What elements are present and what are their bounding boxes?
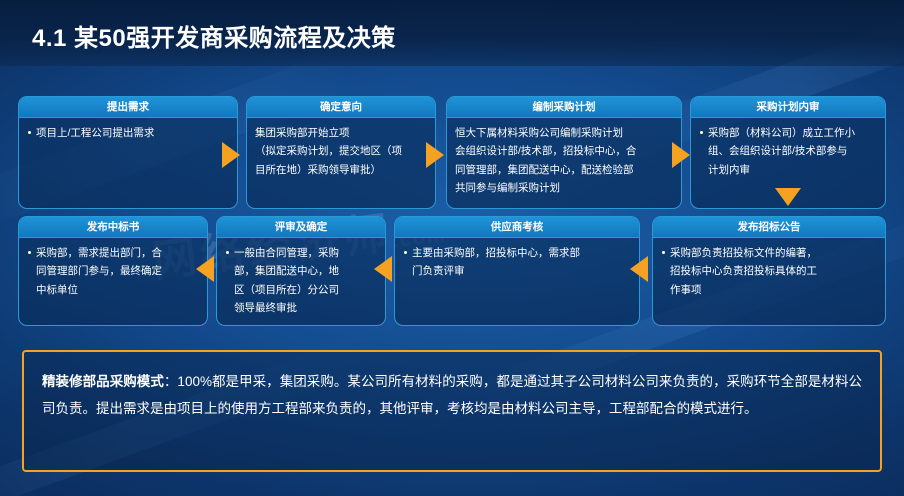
arrow-left-icon (196, 256, 214, 282)
summary-note: 精装修部品采购模式：100%都是甲采，集团采购。某公司所有材料的采购，都是通过其… (22, 350, 882, 472)
flow-box-header: 供应商考核 (395, 217, 639, 238)
flow-box-header: 编制采购计划 (447, 97, 681, 118)
flow-box-line: 采购部（材料公司）成立工作小 (699, 125, 877, 141)
flow-box-body: 一般由合同管理，采购 部，集团配送中心，地 区（项目所在）分公司 领导最终审批 (217, 238, 385, 324)
flow-box-提出需求[interactable]: 提出需求 项目上/工程公司提出需求 (18, 96, 238, 209)
flow-box-确定意向[interactable]: 确定意向 集团采购部开始立项 （拟定采购计划，提交地区（项 目所在地）采购领导审… (246, 96, 436, 209)
flow-box-line: 作事项 (661, 282, 877, 298)
flow-box-line: 中标单位 (27, 282, 199, 298)
summary-note-label: 精装修部品采购模式 (42, 374, 164, 389)
flow-box-line: 门负责评审 (403, 263, 631, 279)
flow-box-供应商考核[interactable]: 供应商考核 主要由采购部，招投标中心，需求部 门负责评审 (394, 216, 640, 326)
flow-box-line: 计划内审 (699, 162, 877, 178)
flow-box-line: 区（项目所在）分公司 (225, 282, 377, 298)
arrow-right-icon (426, 142, 444, 168)
page-title: 4.1 某50强开发商采购流程及决策 (32, 18, 396, 53)
arrow-right-icon (672, 142, 690, 168)
flow-box-body: 采购部（材料公司）成立工作小 组、会组织设计部/技术部参与 计划内审 (691, 118, 885, 186)
flow-box-line: 组、会组织设计部/技术部参与 (699, 143, 877, 159)
flow-box-发布招标公告[interactable]: 发布招标公告 采购部负责招投标文件的编著， 招投标中心负责招投标具体的工 作事项 (652, 216, 886, 326)
flow-box-line: 会组织设计部/技术部，招投标中心，合 (455, 143, 673, 159)
flow-box-编制采购计划[interactable]: 编制采购计划 恒大下属材料采购公司编制采购计划 会组织设计部/技术部，招投标中心… (446, 96, 682, 209)
flow-box-header: 提出需求 (19, 97, 237, 118)
flow-box-line: 一般由合同管理，采购 (225, 245, 377, 261)
arrow-left-icon (374, 256, 392, 282)
flow-box-line: 同管理部门参与，最终确定 (27, 263, 199, 279)
flow-box-body: 恒大下属材料采购公司编制采购计划 会组织设计部/技术部，招投标中心，合 同管理部… (447, 118, 681, 204)
flow-box-header: 采购计划内审 (691, 97, 885, 118)
flow-box-line: 招投标中心负责招投标具体的工 (661, 263, 877, 279)
flow-box-line: 目所在地）采购领导审批） (255, 162, 427, 178)
flow-box-line: 项目上/工程公司提出需求 (27, 125, 229, 141)
flow-box-line: （拟定采购计划，提交地区（项 (255, 143, 427, 159)
slide-canvas: 4.1 某50强开发商采购流程及决策 网络经济师.com 提出需求 项目上/工程… (0, 0, 904, 496)
flow-box-header: 发布招标公告 (653, 217, 885, 238)
arrow-left-icon (630, 256, 648, 282)
flow-box-header: 评审及确定 (217, 217, 385, 238)
arrow-right-icon (222, 142, 240, 168)
flow-box-header: 发布中标书 (19, 217, 207, 238)
flow-box-发布中标书[interactable]: 发布中标书 采购部，需求提出部门，合 同管理部门参与，最终确定 中标单位 (18, 216, 208, 326)
summary-note-body: ：100%都是甲采，集团采购。某公司所有材料的采购，都是通过其子公司材料公司来负… (42, 374, 862, 416)
flow-box-line: 采购部负责招投标文件的编著， (661, 245, 877, 261)
flow-box-body: 项目上/工程公司提出需求 (19, 118, 237, 149)
flow-box-header: 确定意向 (247, 97, 435, 118)
flow-box-line: 集团采购部开始立项 (255, 125, 427, 141)
flow-box-body: 采购部，需求提出部门，合 同管理部门参与，最终确定 中标单位 (19, 238, 207, 306)
arrow-down-icon (775, 188, 801, 206)
flow-box-line: 恒大下属材料采购公司编制采购计划 (455, 125, 673, 141)
flow-box-line: 同管理部，集团配送中心，配送检验部 (455, 162, 673, 178)
flow-box-line: 共同参与编制采购计划 (455, 180, 673, 196)
flow-box-body: 主要由采购部，招投标中心，需求部 门负责评审 (395, 238, 639, 288)
flow-box-评审及确定[interactable]: 评审及确定 一般由合同管理，采购 部，集团配送中心，地 区（项目所在）分公司 领… (216, 216, 386, 326)
flow-box-line: 主要由采购部，招投标中心，需求部 (403, 245, 631, 261)
flow-box-body: 集团采购部开始立项 （拟定采购计划，提交地区（项 目所在地）采购领导审批） (247, 118, 435, 186)
flow-box-line: 部，集团配送中心，地 (225, 263, 377, 279)
flow-box-line: 采购部，需求提出部门，合 (27, 245, 199, 261)
flow-box-line: 领导最终审批 (225, 300, 377, 316)
summary-note-text: 精装修部品采购模式：100%都是甲采，集团采购。某公司所有材料的采购，都是通过其… (42, 368, 862, 422)
flow-box-body: 采购部负责招投标文件的编著， 招投标中心负责招投标具体的工 作事项 (653, 238, 885, 306)
title-bar: 4.1 某50强开发商采购流程及决策 (0, 0, 904, 66)
